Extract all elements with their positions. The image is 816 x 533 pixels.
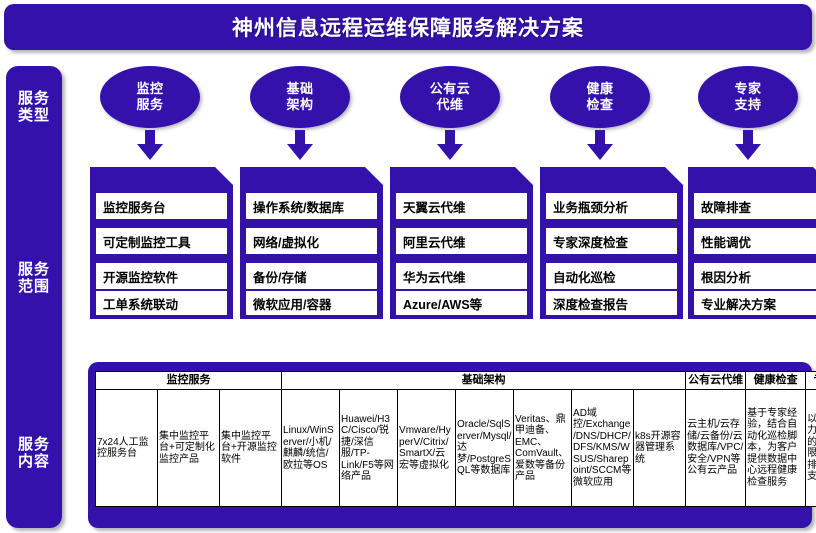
scope-item-label: 备份/存储 <box>246 267 306 286</box>
scope-item[interactable]: 工单系统联动 <box>96 291 227 315</box>
scope-item-label: 故障排查 <box>694 197 751 216</box>
ellipse-expert-support-line1: 专家 <box>734 81 761 96</box>
sidebar-label-service-type-line1: 服务 <box>6 90 62 107</box>
scope-card-infrastructure: 操作系统/数据库 网络/虚拟化 备份/存储 微软应用/容器 <box>240 167 383 319</box>
scope-item[interactable]: 阿里云代维 <box>396 228 527 254</box>
scope-item[interactable]: 备份/存储 <box>246 263 377 289</box>
ellipse-monitoring-line2: 服务 <box>136 97 163 112</box>
category-ellipse-monitoring[interactable]: 监控 服务 <box>100 66 200 128</box>
sidebar-label-service-scope-line2: 范围 <box>6 278 62 295</box>
scope-item[interactable]: 天翼云代维 <box>396 193 527 219</box>
scope-item[interactable]: 专业解决方案 <box>694 291 816 315</box>
sidebar-label-service-scope-line1: 服务 <box>6 261 62 278</box>
scope-item-label: 专家深度检查 <box>546 232 628 251</box>
table-cell: AD域控/Exchange/DNS/DHCP/DFS/KMS/WSUS/Shar… <box>572 390 634 507</box>
arrow-down-expert-support <box>735 130 761 160</box>
ellipse-monitoring-line1: 监控 <box>136 81 163 96</box>
category-ellipse-health-check[interactable]: 健康 检查 <box>550 66 650 128</box>
scope-card-monitoring: 监控服务台 可定制监控工具 开源监控软件 工单系统联动 <box>90 167 233 319</box>
scope-item[interactable]: 深度检查报告 <box>546 291 677 315</box>
arrow-down-public-cloud <box>437 130 463 160</box>
arrow-down-health-check <box>587 130 613 160</box>
scope-item-label: 华为云代维 <box>396 267 466 286</box>
scope-card-health-check: 业务瓶颈分析 专家深度检查 自动化巡检 深度检查报告 <box>540 167 683 319</box>
scope-item-label: 监控服务台 <box>96 197 166 216</box>
sidebar-label-service-scope: 服务 范围 <box>6 261 62 295</box>
diagram-canvas: 神州信息远程运维保障服务解决方案 服务 类型 服务 范围 服务 内容 监控 服务… <box>0 0 816 533</box>
scope-item[interactable]: 自动化巡检 <box>546 263 677 289</box>
scope-item-label: 可定制监控工具 <box>96 232 191 251</box>
scope-item-label: 性能调优 <box>694 232 751 251</box>
service-content-table: 监控服务基础架构公有云代维健康检查专家支持 7x24人工监控服务台集中监控平台+… <box>95 371 816 507</box>
category-ellipse-expert-support[interactable]: 专家 支持 <box>698 66 798 128</box>
sidebar-label-service-type-line2: 类型 <box>6 107 62 124</box>
scope-item[interactable]: 可定制监控工具 <box>96 228 227 254</box>
arrow-down-monitoring <box>137 130 163 160</box>
scope-item-label: 操作系统/数据库 <box>246 197 344 216</box>
scope-item-label: 网络/虚拟化 <box>246 232 319 251</box>
scope-item[interactable]: 微软应用/容器 <box>246 291 377 315</box>
scope-item[interactable]: 操作系统/数据库 <box>246 193 377 219</box>
category-ellipse-public-cloud[interactable]: 公有云 代维 <box>400 66 500 128</box>
scope-item[interactable]: 专家深度检查 <box>546 228 677 254</box>
table-cell: 以专家的能力支持复杂的Case，不限于调优、排障、现场支持 <box>806 390 816 507</box>
table-cell: Veritas、鼎甲迪备、EMC、ComVault、爱数等备份产品 <box>514 390 572 507</box>
scope-item[interactable]: 华为云代维 <box>396 263 527 289</box>
table-cell: 7x24人工监控服务台 <box>96 390 158 507</box>
scope-item-label: 自动化巡检 <box>546 267 616 286</box>
scope-item-label: 专业解决方案 <box>694 294 776 313</box>
table-group-header-2: 公有云代维 <box>686 372 746 390</box>
table-cell: Vmware/HyperV/Citrix/SmartX/云宏等虚拟化 <box>398 390 456 507</box>
scope-card-public-cloud: 天翼云代维 阿里云代维 华为云代维 Azure/AWS等 <box>390 167 533 319</box>
sidebar-label-service-content-line1: 服务 <box>6 436 62 453</box>
table-cell: 基于专家经验，结合自动化巡检脚本，为客户提供数据中心远程健康检查服务 <box>746 390 806 507</box>
scope-item[interactable]: 监控服务台 <box>96 193 227 219</box>
table-row: 7x24人工监控服务台集中监控平台+可定制化监控产品集中监控平台+开源监控软件L… <box>96 390 816 507</box>
table-cell: k8s开源容器管理系统 <box>634 390 686 507</box>
scope-item-label: 阿里云代维 <box>396 232 466 251</box>
sidebar-label-service-content: 服务 内容 <box>6 436 62 470</box>
scope-item-label: Azure/AWS等 <box>396 294 482 313</box>
table-cell: Huawei/H3C/Cisco/锐捷/深信服/TP-Link/F5等网络产品 <box>340 390 398 507</box>
ellipse-health-check-line2: 检查 <box>586 97 613 112</box>
table-cell: 集中监控平台+可定制化监控产品 <box>158 390 220 507</box>
sidebar-label-service-type: 服务 类型 <box>6 90 62 124</box>
sidebar-label-service-content-line2: 内容 <box>6 453 62 470</box>
scope-item-label: 业务瓶颈分析 <box>546 197 628 216</box>
table-group-header-3: 健康检查 <box>746 372 806 390</box>
scope-item[interactable]: 故障排查 <box>694 193 816 219</box>
scope-item-label: 天翼云代维 <box>396 197 466 216</box>
scope-item-label: 工单系统联动 <box>96 294 178 313</box>
scope-item-label: 深度检查报告 <box>546 294 628 313</box>
table-group-header-row: 监控服务基础架构公有云代维健康检查专家支持 <box>96 372 816 390</box>
scope-item[interactable]: 业务瓶颈分析 <box>546 193 677 219</box>
table-cell: 集中监控平台+开源监控软件 <box>220 390 282 507</box>
ellipse-public-cloud-line1: 公有云 <box>430 81 471 96</box>
table-cell: 云主机/云存储/云备份/云数据库/VPC/安全/VPN等公有云产品 <box>686 390 746 507</box>
ellipse-public-cloud-line2: 代维 <box>436 97 463 112</box>
page-title-banner: 神州信息远程运维保障服务解决方案 <box>4 4 812 50</box>
table-cell: Oracle/SqlServer/Mysql/达梦/PostgreSQL等数据库 <box>456 390 514 507</box>
table-cell: Linux/WinServer/小机/麒麟/统信/欧拉等OS <box>282 390 340 507</box>
ellipse-expert-support-line2: 支持 <box>734 97 761 112</box>
scope-item-label: 微软应用/容器 <box>246 294 331 313</box>
scope-item[interactable]: 开源监控软件 <box>96 263 227 289</box>
table-group-header-1: 基础架构 <box>282 372 686 390</box>
table-group-header-4: 专家支持 <box>806 372 816 390</box>
scope-item[interactable]: Azure/AWS等 <box>396 291 527 315</box>
scope-item-label: 开源监控软件 <box>96 267 178 286</box>
ellipse-infrastructure-line1: 基础 <box>286 81 313 96</box>
ellipse-health-check-line1: 健康 <box>586 81 613 96</box>
scope-item[interactable]: 性能调优 <box>694 228 816 254</box>
ellipse-infrastructure-line2: 架构 <box>286 97 313 112</box>
scope-item-label: 根因分析 <box>694 267 751 286</box>
page-title: 神州信息远程运维保障服务解决方案 <box>232 12 584 42</box>
scope-item[interactable]: 根因分析 <box>694 263 816 289</box>
arrow-down-infrastructure <box>287 130 313 160</box>
category-ellipse-infrastructure[interactable]: 基础 架构 <box>250 66 350 128</box>
row-label-sidebar: 服务 类型 服务 范围 服务 内容 <box>6 66 62 528</box>
scope-card-expert-support: 故障排查 性能调优 根因分析 专业解决方案 <box>688 167 816 319</box>
service-content-panel: 监控服务基础架构公有云代维健康检查专家支持 7x24人工监控服务台集中监控平台+… <box>88 362 812 528</box>
table-group-header-0: 监控服务 <box>96 372 282 390</box>
scope-item[interactable]: 网络/虚拟化 <box>246 228 377 254</box>
